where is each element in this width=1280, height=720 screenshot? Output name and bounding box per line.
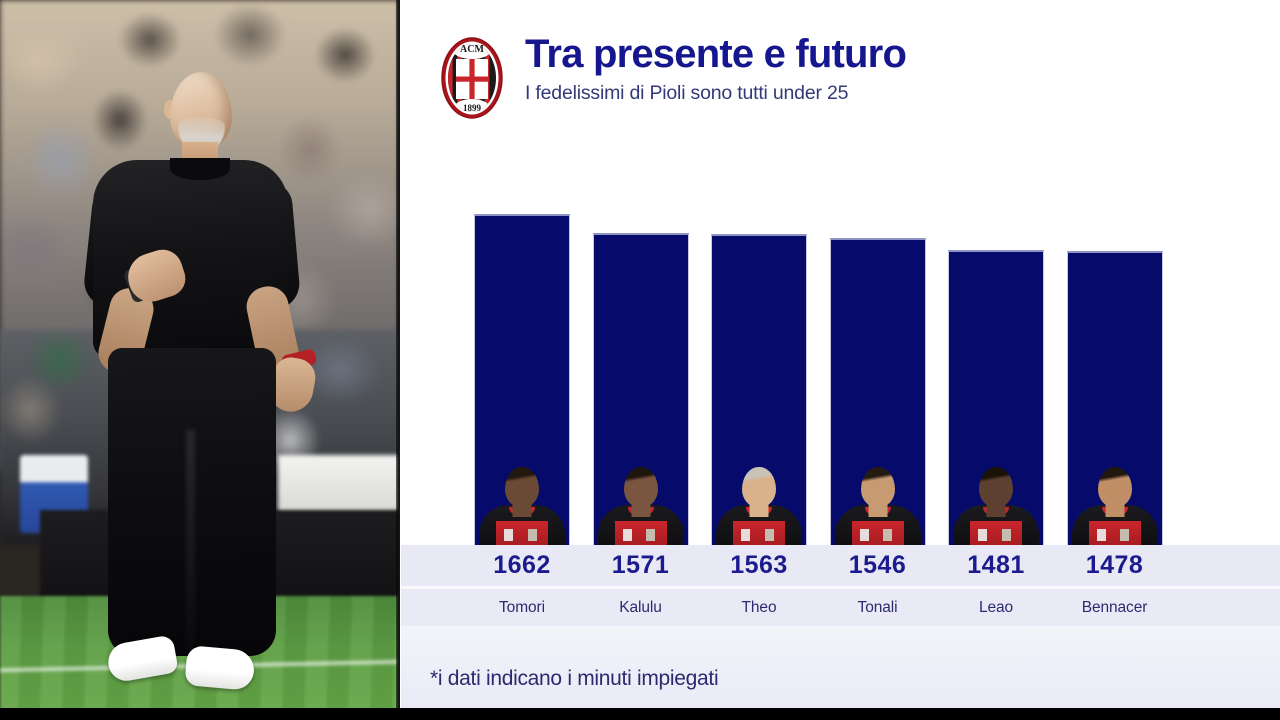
player-photo-tonali <box>831 461 925 545</box>
player-kit-sponsor <box>623 529 632 541</box>
player-kit-sponsor <box>1097 529 1106 541</box>
coach-right-shoe <box>184 645 255 691</box>
bar-leao <box>948 250 1044 545</box>
bar-kalulu <box>593 233 689 545</box>
bar-group <box>593 0 689 545</box>
bar-label-leao: Leao <box>948 589 1044 626</box>
bar-group <box>711 0 807 545</box>
bar-theo <box>711 234 807 545</box>
player-neck <box>631 501 650 517</box>
bar-value-bennacer: 1478 <box>1067 545 1163 586</box>
player-photo-kalulu <box>594 461 688 545</box>
player-photo-bennacer <box>1068 461 1162 545</box>
chart-panel: ACM 1899 Tra presente e futuro I fedelis… <box>401 0 1280 720</box>
bar-group <box>1067 0 1163 545</box>
player-photo-theo <box>712 461 806 545</box>
bar-group <box>474 0 570 545</box>
bar-label-bennacer: Bennacer <box>1067 589 1163 626</box>
bar-label-tonali-text: Tonali <box>858 599 898 617</box>
player-photo-leao <box>949 461 1043 545</box>
player-kit-sponsor <box>504 529 513 541</box>
coach-shirt-collar <box>170 158 230 180</box>
bar-label-theo-text: Theo <box>742 599 777 617</box>
bar-label-leao-text: Leao <box>979 599 1013 617</box>
player-neck <box>987 501 1006 517</box>
player-kit-badge <box>765 529 774 541</box>
bar-value-theo: 1563 <box>711 545 807 586</box>
bar-value-kalulu-text: 1571 <box>612 551 670 580</box>
bar-group <box>948 0 1044 545</box>
player-kit-badge <box>883 529 892 541</box>
bar-value-bennacer-text: 1478 <box>1086 551 1144 580</box>
bar-value-tonali-text: 1546 <box>849 551 907 580</box>
bar-label-tomori: Tomori <box>474 589 570 626</box>
player-kit-badge <box>1002 529 1011 541</box>
player-neck <box>1105 501 1124 517</box>
bar-value-theo-text: 1563 <box>730 551 788 580</box>
bar-label-tomori-text: Tomori <box>499 599 545 617</box>
player-kit-badge <box>646 529 655 541</box>
coach-leg-separation <box>186 430 195 650</box>
player-neck <box>513 501 532 517</box>
bottom-letterbox-bar <box>0 708 1280 720</box>
bar-value-tomori-text: 1662 <box>493 551 551 580</box>
bar-group <box>830 0 926 545</box>
chart-footnote: *i dati indicano i minuti impiegati <box>430 667 718 691</box>
bar-label-tonali: Tonali <box>830 589 926 626</box>
player-kit-badge <box>1120 529 1129 541</box>
coach-photo-panel <box>0 0 400 720</box>
broadcast-graphic-screen: ACM 1899 Tra presente e futuro I fedelis… <box>0 0 1280 720</box>
bar-value-tomori: 1662 <box>474 545 570 586</box>
bar-value-leao-text: 1481 <box>967 551 1025 580</box>
bar-tonali <box>830 238 926 545</box>
bar-bennacer <box>1067 251 1163 545</box>
bar-chart-plot-area <box>401 0 1280 545</box>
bar-value-leao: 1481 <box>948 545 1044 586</box>
panel-divider <box>396 0 400 720</box>
player-kit-sponsor <box>860 529 869 541</box>
bar-label-bennacer-text: Bennacer <box>1082 599 1148 617</box>
player-neck <box>750 501 769 517</box>
bar-label-theo: Theo <box>711 589 807 626</box>
value-row-band: 166215711563154614811478 <box>401 545 1280 586</box>
name-row-band: TomoriKaluluTheoTonaliLeaoBennacer <box>401 589 1280 626</box>
coach-figure <box>0 0 400 720</box>
player-kit-badge <box>528 529 537 541</box>
bar-tomori <box>474 214 570 545</box>
player-photo-tomori <box>475 461 569 545</box>
bar-label-kalulu: Kalulu <box>593 589 689 626</box>
player-kit-sponsor <box>741 529 750 541</box>
bar-label-kalulu-text: Kalulu <box>619 599 662 617</box>
player-neck <box>868 501 887 517</box>
bar-value-tonali: 1546 <box>830 545 926 586</box>
bar-value-kalulu: 1571 <box>593 545 689 586</box>
player-kit-sponsor <box>978 529 987 541</box>
